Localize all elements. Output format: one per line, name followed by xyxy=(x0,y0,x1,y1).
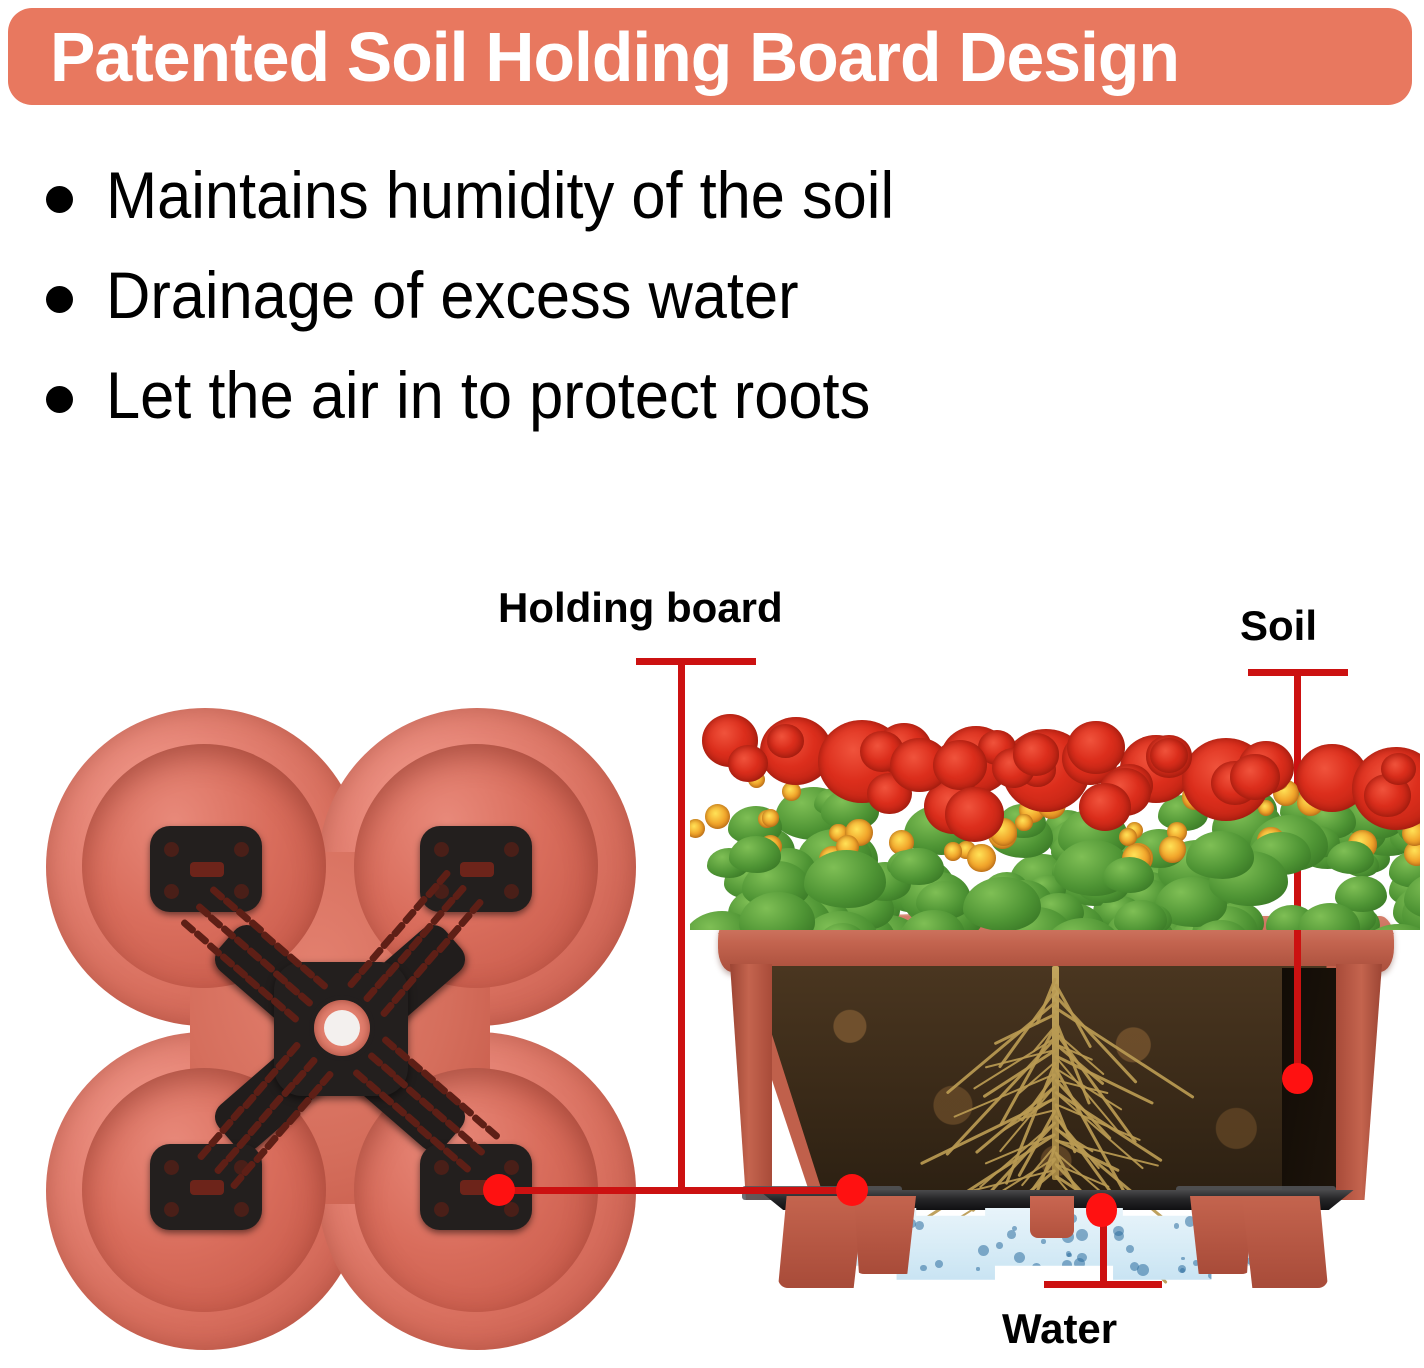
water-bubble xyxy=(1022,1269,1032,1279)
water-bubble xyxy=(996,1242,1002,1248)
accent-flower xyxy=(944,842,962,860)
water-bubble xyxy=(920,1265,927,1272)
holding-board-leader-rail xyxy=(497,1187,853,1194)
bullet-dot-icon xyxy=(46,286,73,313)
board-screw-hole xyxy=(164,884,179,899)
accent-flower xyxy=(762,809,779,826)
list-item: Maintains humidity of the soil xyxy=(34,150,1084,250)
feature-text: Let the air in to protect roots xyxy=(106,354,870,436)
water-bubble xyxy=(1076,1229,1088,1241)
bullet-dot-icon xyxy=(46,186,73,213)
board-perforation xyxy=(484,1124,501,1140)
board-vent-slot xyxy=(190,862,224,877)
board-screw-hole xyxy=(164,1202,179,1217)
list-item: Let the air in to protect roots xyxy=(34,350,1084,450)
board-vent-slot xyxy=(190,1180,224,1195)
feature-text: Maintains humidity of the soil xyxy=(106,154,894,236)
foliage-leaf xyxy=(1103,857,1154,893)
pot-foot xyxy=(1190,1196,1252,1274)
planter-cross-section-image xyxy=(690,690,1420,1330)
red-chrysanthemum xyxy=(1067,721,1125,774)
water-bubble xyxy=(1013,1270,1016,1273)
callout-label-water: Water xyxy=(1002,1306,1117,1352)
water-bubble xyxy=(1014,1252,1025,1263)
pot-foot xyxy=(854,1196,916,1274)
bullet-dot-icon xyxy=(46,386,73,413)
water-marker xyxy=(1086,1193,1117,1227)
board-screw-hole xyxy=(434,1202,449,1217)
board-screw-hole xyxy=(434,842,449,857)
reservoir-center-column xyxy=(1030,1196,1074,1238)
accent-flower xyxy=(1159,836,1186,863)
red-chrysanthemum xyxy=(728,745,768,782)
board-screw-hole xyxy=(164,1160,179,1175)
water-bubble xyxy=(976,1267,979,1270)
water-bubble xyxy=(1062,1260,1072,1270)
foliage-leaf xyxy=(890,848,944,886)
holding-board-leader-bar xyxy=(636,658,756,665)
accent-flower xyxy=(967,844,995,872)
water-bubble xyxy=(978,1245,989,1256)
pot-foot xyxy=(1242,1196,1328,1288)
feature-text: Drainage of excess water xyxy=(106,254,799,336)
foliage-leaf xyxy=(804,850,886,908)
list-item: Drainage of excess water xyxy=(34,250,1084,350)
water-bubble xyxy=(1174,1223,1180,1229)
board-screw-hole xyxy=(234,884,249,899)
holding-board-marker-left xyxy=(483,1174,515,1206)
planter-top-view-image xyxy=(40,704,640,1352)
water-bubble xyxy=(1067,1253,1072,1258)
red-chrysanthemum xyxy=(1230,754,1280,800)
water-bubble xyxy=(1022,1271,1034,1283)
foliage-leaf xyxy=(963,877,1040,930)
water-bubble xyxy=(1035,1268,1040,1273)
feature-list: Maintains humidity of the soil Drainage … xyxy=(34,150,1084,450)
soil-marker xyxy=(1282,1063,1313,1094)
pot-foot xyxy=(778,1196,864,1288)
page-title: Patented Soil Holding Board Design xyxy=(50,20,1340,94)
foliage-leaf xyxy=(1327,841,1374,874)
red-chrysanthemum xyxy=(1079,783,1131,831)
water-bubble xyxy=(1032,1263,1041,1272)
soil-holding-board xyxy=(144,814,536,1244)
callout-label-soil: Soil xyxy=(1240,603,1317,649)
board-corner-pad xyxy=(150,1144,262,1230)
red-chrysanthemum xyxy=(767,724,804,758)
board-corner-pad xyxy=(150,826,262,912)
water-bubble xyxy=(1180,1268,1185,1273)
water-bubble xyxy=(935,1260,943,1268)
board-corner-pad xyxy=(420,826,532,912)
water-bubble xyxy=(1007,1230,1016,1239)
holding-board-leader-stem xyxy=(678,658,685,1190)
water-bubble xyxy=(915,1221,924,1230)
board-screw-hole xyxy=(234,842,249,857)
accent-flower xyxy=(690,819,705,839)
water-bubble xyxy=(1181,1257,1184,1260)
flower-foliage xyxy=(690,698,1420,930)
red-chrysanthemum xyxy=(1150,738,1188,773)
holding-board-marker-right xyxy=(836,1174,868,1206)
board-screw-hole xyxy=(504,884,519,899)
board-screw-hole xyxy=(434,1160,449,1175)
accent-flower xyxy=(705,804,730,829)
red-chrysanthemum xyxy=(945,787,1004,841)
water-bubble xyxy=(1126,1245,1134,1253)
foliage-leaf xyxy=(1186,831,1254,879)
board-screw-hole xyxy=(504,1160,519,1175)
root-system xyxy=(734,966,1378,1198)
board-vent-slot xyxy=(460,862,494,877)
foliage-leaf xyxy=(729,836,781,873)
red-chrysanthemum xyxy=(1013,733,1059,776)
board-screw-hole xyxy=(164,842,179,857)
water-bubble xyxy=(1041,1239,1045,1243)
water-bubble xyxy=(1077,1253,1087,1263)
drain-hole xyxy=(324,1010,360,1046)
soil-leader-stem xyxy=(1294,669,1301,1079)
board-screw-hole xyxy=(234,1202,249,1217)
board-screw-hole xyxy=(504,842,519,857)
accent-flower xyxy=(1015,814,1032,831)
header-banner: Patented Soil Holding Board Design xyxy=(8,8,1412,105)
callout-label-holding-board: Holding board xyxy=(498,585,783,631)
